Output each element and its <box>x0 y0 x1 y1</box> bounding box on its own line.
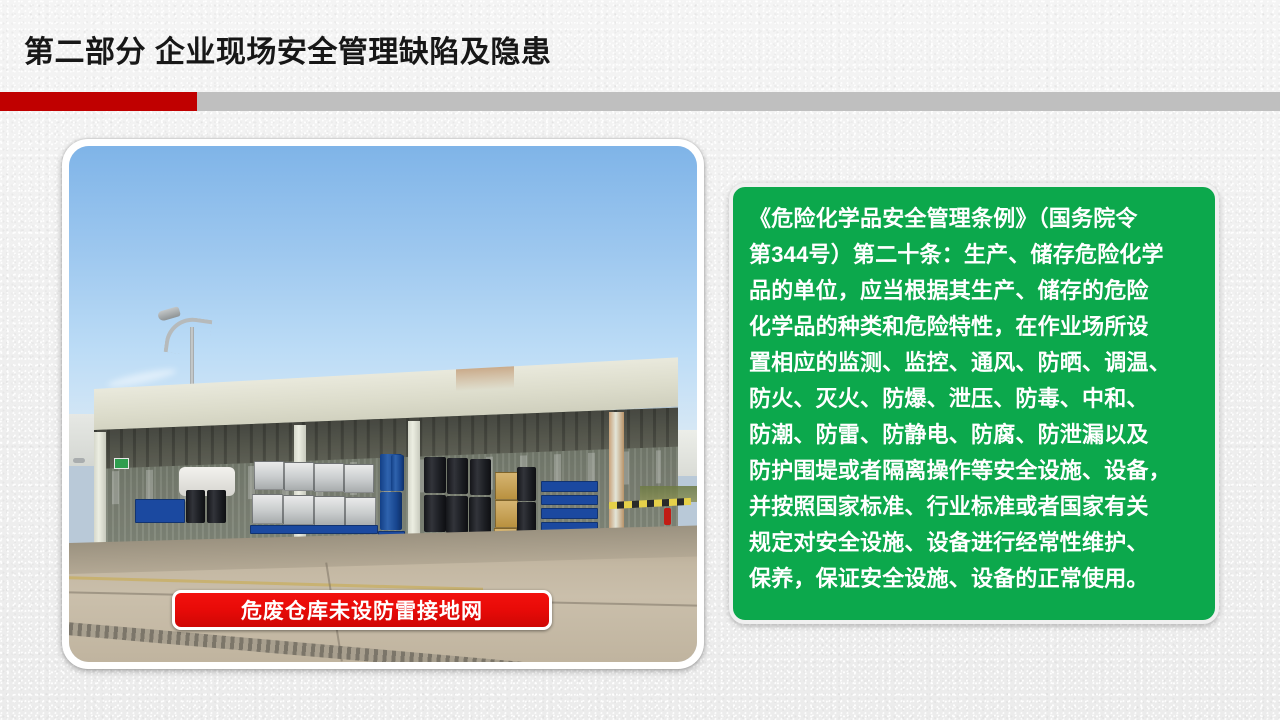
fire-hydrant-icon <box>664 508 671 525</box>
photo-card: 危废仓库未设防雷接地网 <box>62 139 704 669</box>
page-title: 第二部分 企业现场安全管理缺陷及隐患 <box>24 27 551 71</box>
photo-caption-text: 危废仓库未设防雷接地网 <box>241 595 483 625</box>
stored-goods-pallet <box>541 508 598 518</box>
stored-goods-drum <box>424 457 445 493</box>
stored-goods-ibc-tote <box>345 497 376 527</box>
exit-sign-icon <box>114 458 129 469</box>
stored-goods-pallet <box>541 495 598 505</box>
stored-goods-ibc-tote <box>252 494 283 524</box>
header-divider-bar <box>0 92 1280 111</box>
stored-goods-pallet <box>135 499 185 523</box>
stored-goods-drum <box>447 458 468 494</box>
stored-goods-ibc-tote <box>314 463 344 492</box>
stored-goods-ibc-tote <box>283 495 314 525</box>
regulation-body-text: 《危险化学品安全管理条例》（国务院令 第344号）第二十条：生产、储存危险化学 … <box>749 201 1201 597</box>
stored-goods-drum <box>446 496 468 533</box>
presentation-slide: 第二部分 企业现场安全管理缺陷及隐患 <box>0 0 1280 720</box>
stored-goods-pallet <box>250 525 378 534</box>
stored-goods-ibc-tote <box>254 461 284 490</box>
stored-goods-ibc-tote <box>344 464 374 493</box>
stored-goods-blue-drum <box>391 455 405 491</box>
warehouse-photo: 危废仓库未设防雷接地网 <box>69 146 697 662</box>
stored-goods-drum <box>517 467 536 501</box>
divider-gray-segment <box>197 92 1280 111</box>
regulation-text-box: 《危险化学品安全管理条例》（国务院令 第344号）第二十条：生产、储存危险化学 … <box>729 183 1219 624</box>
stored-goods-drum <box>470 459 491 495</box>
photo-caption-badge: 危废仓库未设防雷接地网 <box>172 590 552 630</box>
stored-goods-crate <box>495 500 518 528</box>
divider-red-segment <box>0 92 197 111</box>
stored-goods-ibc-tote <box>314 496 345 526</box>
stored-goods-drum <box>186 490 205 524</box>
stored-goods-drum <box>469 497 491 534</box>
distant-lamp-icon <box>73 458 85 463</box>
stored-goods-drum <box>424 495 446 532</box>
stored-goods-pallet <box>541 481 598 491</box>
stored-goods-blue-drum <box>380 492 402 530</box>
stored-goods-crate <box>495 472 517 500</box>
stored-goods-drum <box>207 490 226 524</box>
stored-goods-ibc-tote <box>284 462 314 491</box>
roof-rust-stain <box>456 366 514 391</box>
